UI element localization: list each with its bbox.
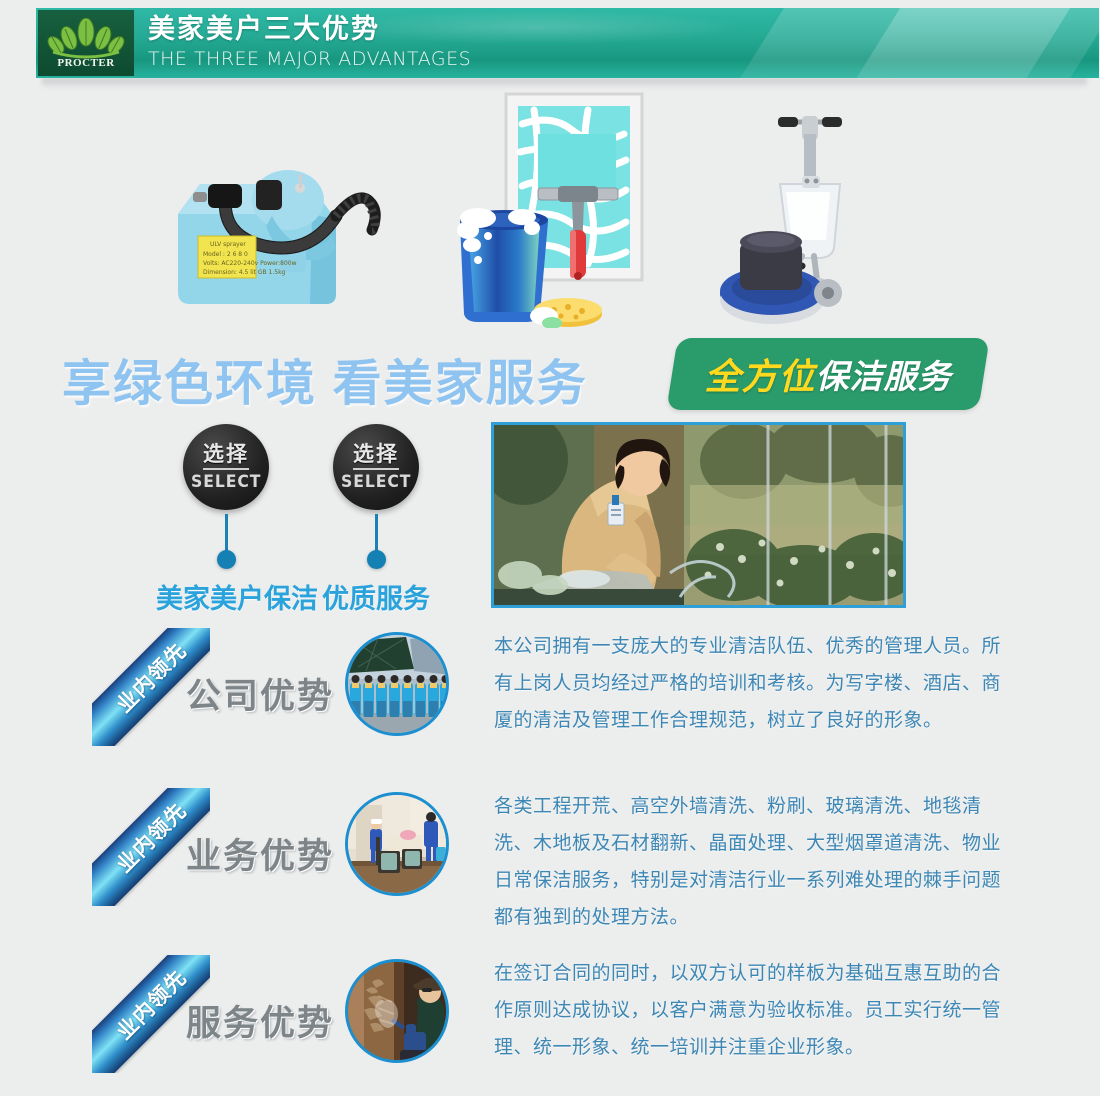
header-bar: PROCTER 美家美户三大优势 THE THREE MAJOR ADVANTA… (36, 8, 1099, 78)
window-cleaning-image (448, 90, 678, 328)
product-image-strip: ULV sprayer Model : 2 6 8 0 Volts: AC220… (0, 88, 1100, 340)
ribbon-label: 业内领先 (109, 795, 192, 878)
svg-text:ULV sprayer: ULV sprayer (210, 241, 246, 248)
service-badge-text: 全方位 保洁服务 (672, 338, 984, 410)
advantage-description: 各类工程开荒、高空外墙清洗、粉刷、玻璃清洗、地毯清洗、木地板及石材翻新、晶面处理… (494, 788, 1010, 936)
header-title-cn: 美家美户三大优势 (148, 12, 471, 46)
header-title-en: THE THREE MAJOR ADVANTAGES (148, 46, 471, 72)
logo-wordmark: PROCTER (57, 57, 114, 69)
pin-line-icon (225, 514, 228, 552)
select-marker-2[interactable]: 选择 SELECT 优质服务 (306, 424, 446, 616)
indoor-cleaning-art (348, 795, 449, 896)
team-lineup-art (348, 635, 449, 736)
select-circle-label-en: SELECT (191, 472, 261, 492)
page-header: PROCTER 美家美户三大优势 THE THREE MAJOR ADVANTA… (36, 8, 1099, 80)
advantage-photo-spray (345, 959, 449, 1063)
pin-dot-icon (217, 550, 236, 569)
advantage-title: 公司优势 (186, 668, 334, 719)
select-marker-1[interactable]: 选择 SELECT 美家美户保洁 (156, 424, 296, 616)
select-circle-label-cn: 选择 (203, 443, 249, 470)
svg-text:Dimension: 4.5 lit GB 1: Dimension: 4.5 lit GB 1.5kg (203, 269, 286, 276)
header-shadow (42, 78, 1087, 88)
company-logo: PROCTER (38, 10, 134, 76)
ribbon-label: 业内领先 (109, 962, 192, 1045)
advantage-title: 服务优势 (186, 995, 334, 1046)
pin-line-icon (375, 514, 378, 552)
wall-spray-art (348, 962, 449, 1063)
service-badge: 全方位 保洁服务 (672, 338, 984, 410)
promo-page: PROCTER 美家美户三大优势 THE THREE MAJOR ADVANTA… (0, 0, 1100, 1096)
worker-cleaning-photo (491, 422, 906, 608)
advantage-description: 在签订合同的同时，以双方认可的样板为基础互惠互助的合作原则达成协议，以客户满意为… (494, 955, 1010, 1066)
worker-photo-art (494, 425, 903, 605)
select-caption-1: 美家美户保洁 (156, 577, 296, 616)
service-badge-highlight: 全方位 (704, 348, 815, 400)
pin-dot-icon (367, 550, 386, 569)
advantage-title: 业务优势 (186, 828, 334, 879)
advantage-description: 本公司拥有一支庞大的专业清洁队伍、优秀的管理人员。所有上岗人员均经过严格的培训和… (494, 628, 1010, 739)
svg-text:Volts: AC220-240v Power:800w: Volts: AC220-240v Power:800w (203, 260, 297, 267)
select-markers: 选择 SELECT 美家美户保洁 选择 SELECT 优质服务 (0, 424, 480, 614)
select-circle-icon: 选择 SELECT (333, 424, 419, 510)
advantage-photo-indoor (345, 792, 449, 896)
advantage-photo-team (345, 632, 449, 736)
leaf-crown-icon (47, 18, 125, 60)
main-headline: 享绿色环境 看美家服务 (62, 344, 588, 415)
select-caption-2: 优质服务 (306, 577, 446, 616)
select-circle-label-cn: 选择 (353, 443, 399, 470)
ulv-sprayer-image: ULV sprayer Model : 2 6 8 0 Volts: AC220… (160, 96, 400, 326)
ribbon-label: 业内领先 (109, 635, 192, 718)
select-circle-label-en: SELECT (341, 472, 411, 492)
floor-polisher-image (706, 88, 896, 332)
select-circle-icon: 选择 SELECT (183, 424, 269, 510)
svg-text:Model : 2 6 8 0: Model : 2 6 8 0 (203, 251, 248, 258)
header-titles: 美家美户三大优势 THE THREE MAJOR ADVANTAGES (148, 12, 471, 72)
service-badge-rest: 保洁服务 (816, 350, 952, 398)
